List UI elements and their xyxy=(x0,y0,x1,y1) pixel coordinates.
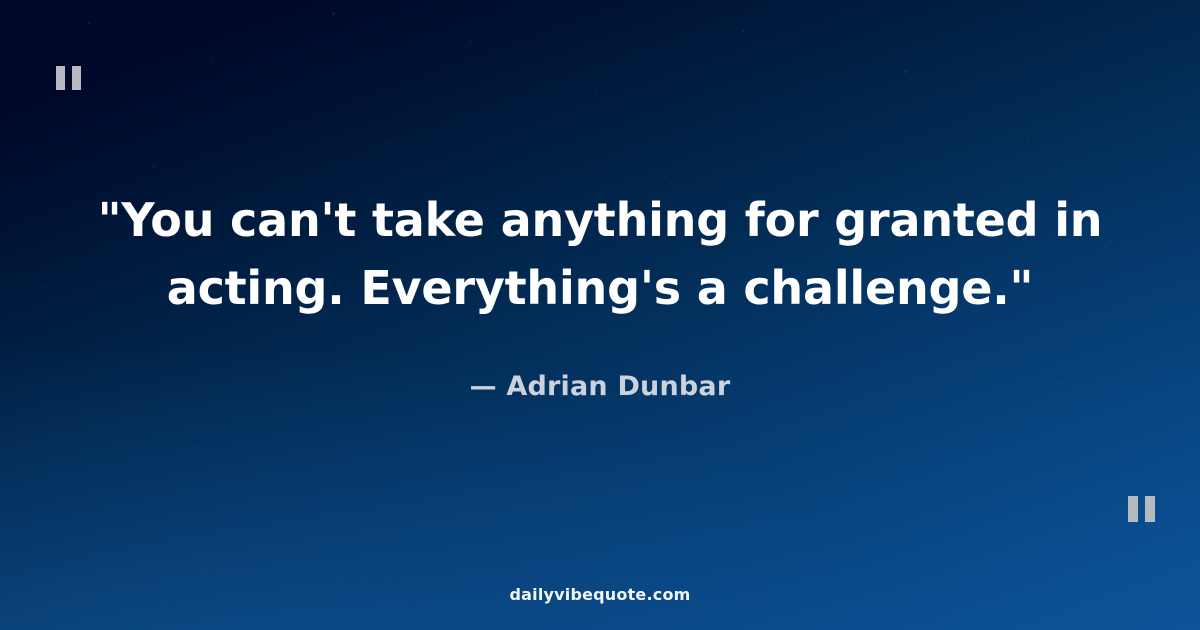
quote-bar-left xyxy=(56,66,65,90)
quote-card: "You can't take anything for granted in … xyxy=(0,0,1200,630)
quote-content: "You can't take anything for granted in … xyxy=(0,186,1200,402)
quote-mark-icon-close xyxy=(1128,496,1155,522)
footer-site-label: dailyvibequote.com xyxy=(0,585,1200,604)
quote-text: "You can't take anything for granted in … xyxy=(60,186,1140,322)
quote-mark-icon-open xyxy=(56,66,81,90)
quote-attribution: — Adrian Dunbar xyxy=(60,371,1140,402)
quote-bar-left xyxy=(1128,496,1138,522)
quote-bar-right xyxy=(1145,496,1155,522)
quote-bar-right xyxy=(72,66,81,90)
